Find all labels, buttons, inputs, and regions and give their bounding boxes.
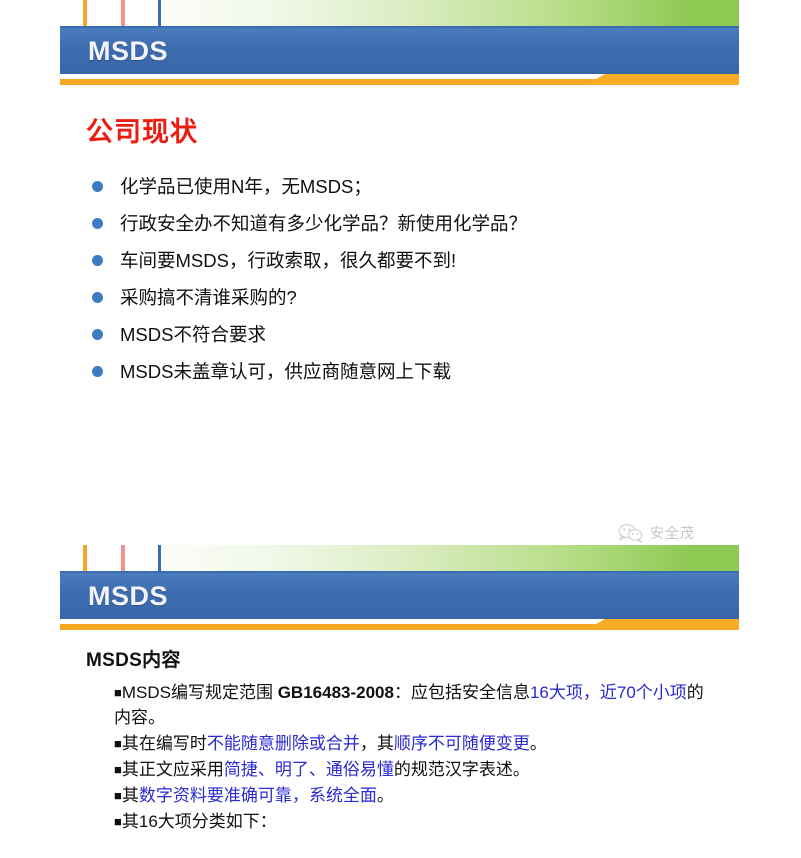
content-paragraph: ■其在编写时不能随意删除或合并，其顺序不可随便变更。 <box>114 731 714 756</box>
decor-stripe-orange <box>83 0 87 28</box>
paragraph-run: 的规范汉字表述。 <box>394 760 530 779</box>
content-paragraph: ■其数字资料要准确可靠，系统全面。 <box>114 783 714 808</box>
watermark-label: 安全茂 <box>650 523 695 543</box>
paragraph-run: 简捷、明了、通俗易懂 <box>224 760 394 779</box>
square-bullet-icon: ■ <box>114 814 122 829</box>
decor-stripe-orange <box>83 545 87 573</box>
slide1-decor-strip <box>60 0 739 28</box>
slide1-bullet-list: 化学品已使用N年，无MSDS； 行政安全办不知道有多少化学品？新使用化学品？ 车… <box>92 174 702 396</box>
bullet-dot-icon <box>92 255 103 266</box>
slide-company-status: MSDS 公司现状 化学品已使用N年，无MSDS； 行政安全办不知道有多少化学品… <box>60 0 739 545</box>
decor-stripe-blue <box>158 0 161 28</box>
slide1-body: 公司现状 化学品已使用N年，无MSDS； 行政安全办不知道有多少化学品？新使用化… <box>60 86 739 545</box>
slide2-header-title: MSDS <box>88 579 168 613</box>
paragraph-run: 其在编写时 <box>122 734 207 753</box>
bullet-label: 行政安全办不知道有多少化学品？新使用化学品？ <box>120 211 527 236</box>
list-item: 采购搞不清谁采购的? <box>92 285 702 310</box>
wechat-icon <box>618 523 644 543</box>
slide1-heading: 公司现状 <box>86 110 198 149</box>
paragraph-run: MSDS编写规定范围 <box>122 683 278 702</box>
bullet-label: 采购搞不清谁采购的? <box>120 285 297 310</box>
bullet-dot-icon <box>92 181 103 192</box>
list-item: 车间要MSDS，行政索取，很久都要不到! <box>92 248 702 273</box>
header-accent-low <box>60 624 594 630</box>
square-bullet-icon: ■ <box>114 736 122 751</box>
slide2-header-accent <box>60 619 739 631</box>
watermark: 安全茂 <box>618 523 695 543</box>
paragraph-run: ，其 <box>360 734 394 753</box>
decor-stripe-pink <box>121 0 125 28</box>
bullet-dot-icon <box>92 292 103 303</box>
bullet-dot-icon <box>92 218 103 229</box>
paragraph-run: 16大项，近70个小项 <box>530 683 687 702</box>
slide-msds-content: MSDS MSDS内容 ■MSDS编写规定范围 GB16483-2008：应包括… <box>60 545 739 858</box>
list-item: 化学品已使用N年，无MSDS； <box>92 174 702 199</box>
slide2-heading: MSDS内容 <box>86 645 181 672</box>
square-bullet-icon: ■ <box>114 685 122 700</box>
slide1-header-title: MSDS <box>88 34 168 68</box>
paragraph-run: 其正文应采用 <box>122 760 224 779</box>
slide1-header-accent <box>60 74 739 86</box>
slide2-header-band: MSDS <box>60 573 739 619</box>
list-item: MSDS未盖章认可，供应商随意网上下载 <box>92 359 702 384</box>
bullet-label: 化学品已使用N年，无MSDS； <box>120 174 372 199</box>
slide1-header-band: MSDS <box>60 28 739 74</box>
paragraph-run: 不能随意删除或合并 <box>207 734 360 753</box>
decor-stripe-green <box>161 545 739 573</box>
square-bullet-icon: ■ <box>114 762 122 777</box>
slide2-paragraph-list: ■MSDS编写规定范围 GB16483-2008：应包括安全信息16大项，近70… <box>114 680 714 835</box>
list-item: MSDS不符合要求 <box>92 322 702 347</box>
paragraph-run: 。 <box>530 734 547 753</box>
presentation-page: MSDS 公司现状 化学品已使用N年，无MSDS； 行政安全办不知道有多少化学品… <box>0 0 801 858</box>
content-paragraph: ■MSDS编写规定范围 GB16483-2008：应包括安全信息16大项，近70… <box>114 680 714 730</box>
bullet-label: MSDS不符合要求 <box>120 322 266 347</box>
header-accent-low <box>60 79 594 85</box>
decor-stripe-green <box>161 0 739 28</box>
list-item: 行政安全办不知道有多少化学品？新使用化学品？ <box>92 211 702 236</box>
bullet-dot-icon <box>92 366 103 377</box>
decor-stripe-pink <box>121 545 125 573</box>
paragraph-run: GB16483-2008 <box>278 683 394 702</box>
content-paragraph: ■其16大项分类如下： <box>114 809 714 834</box>
paragraph-run: 。 <box>377 786 394 805</box>
bullet-dot-icon <box>92 329 103 340</box>
header-accent-high <box>604 619 739 630</box>
slide2-decor-strip <box>60 545 739 573</box>
slide2-body: MSDS内容 ■MSDS编写规定范围 GB16483-2008：应包括安全信息1… <box>60 631 739 858</box>
paragraph-run: 其16大项分类如下： <box>122 812 277 831</box>
square-bullet-icon: ■ <box>114 788 122 803</box>
bullet-label: 车间要MSDS，行政索取，很久都要不到! <box>120 248 456 273</box>
paragraph-run: ：应包括安全信息 <box>394 683 530 702</box>
paragraph-run: 其 <box>122 786 139 805</box>
content-paragraph: ■其正文应采用简捷、明了、通俗易懂的规范汉字表述。 <box>114 757 714 782</box>
header-accent-high <box>604 74 739 85</box>
decor-stripe-blue <box>158 545 161 573</box>
bullet-label: MSDS未盖章认可，供应商随意网上下载 <box>120 359 451 384</box>
paragraph-run: 顺序不可随便变更 <box>394 734 530 753</box>
paragraph-run: 数字资料要准确可靠，系统全面 <box>139 786 377 805</box>
